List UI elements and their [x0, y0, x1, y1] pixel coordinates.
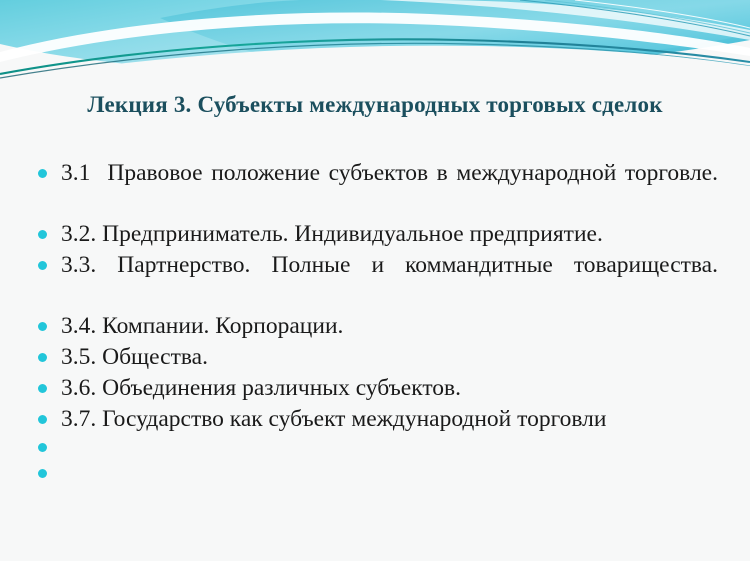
list-item-label: Объединения различных субъектов.	[102, 375, 461, 401]
list-item-number: 3.2.	[61, 221, 96, 247]
list-item-number: 3.6.	[61, 375, 96, 401]
list-item-label: Правовое положение субъектов в междунаро…	[107, 160, 718, 186]
list-item	[28, 435, 718, 460]
bullet-dot-icon	[38, 443, 47, 452]
list-item	[28, 461, 718, 486]
list-item-label: Компании. Корпорации.	[102, 313, 343, 339]
page-title: Лекция 3. Субъекты международных торговы…	[0, 92, 750, 118]
bullet-dot-icon	[38, 169, 47, 178]
list-item: 3.5. Общества.	[28, 342, 718, 372]
bullet-dot-icon	[38, 230, 47, 239]
presentation-slide: Лекция 3. Субъекты международных торговы…	[0, 0, 750, 561]
list-item-number: 3.1	[61, 160, 90, 186]
list-item-number: 3.5.	[61, 344, 96, 370]
list-item: 3.6. Объединения различных субъектов.	[28, 373, 718, 403]
list-item-label: Общества.	[102, 344, 208, 370]
bullet-dot-icon	[38, 322, 47, 331]
list-item-label: Предприниматель. Индивидуальное предприя…	[102, 221, 603, 247]
bullet-dot-icon	[38, 469, 47, 478]
header-wave-decoration	[0, 0, 750, 90]
list-item: 3.4. Компании. Корпорации.	[28, 311, 718, 341]
list-item-label: Государство как субъект международной то…	[102, 406, 606, 432]
list-item-number: 3.7.	[61, 406, 96, 432]
list-item: 3.7. Государство как субъект международн…	[28, 404, 718, 434]
list-item: 3.1Правовое положение субъектов в междун…	[28, 158, 718, 218]
list-item-number: 3.4.	[61, 313, 96, 339]
bullet-dot-icon	[38, 261, 47, 270]
list-item: 3.2. Предприниматель. Индивидуальное пре…	[28, 219, 718, 249]
bullet-dot-icon	[38, 353, 47, 362]
agenda-bullet-list: 3.1Правовое положение субъектов в междун…	[28, 158, 718, 487]
bullet-dot-icon	[38, 384, 47, 393]
list-item-label: Партнерство. Полные и коммандитные товар…	[117, 252, 718, 278]
list-item-number: 3.3.	[61, 252, 96, 278]
bullet-dot-icon	[38, 415, 47, 424]
list-item: 3.3. Партнерство. Полные и коммандитные …	[28, 250, 718, 310]
